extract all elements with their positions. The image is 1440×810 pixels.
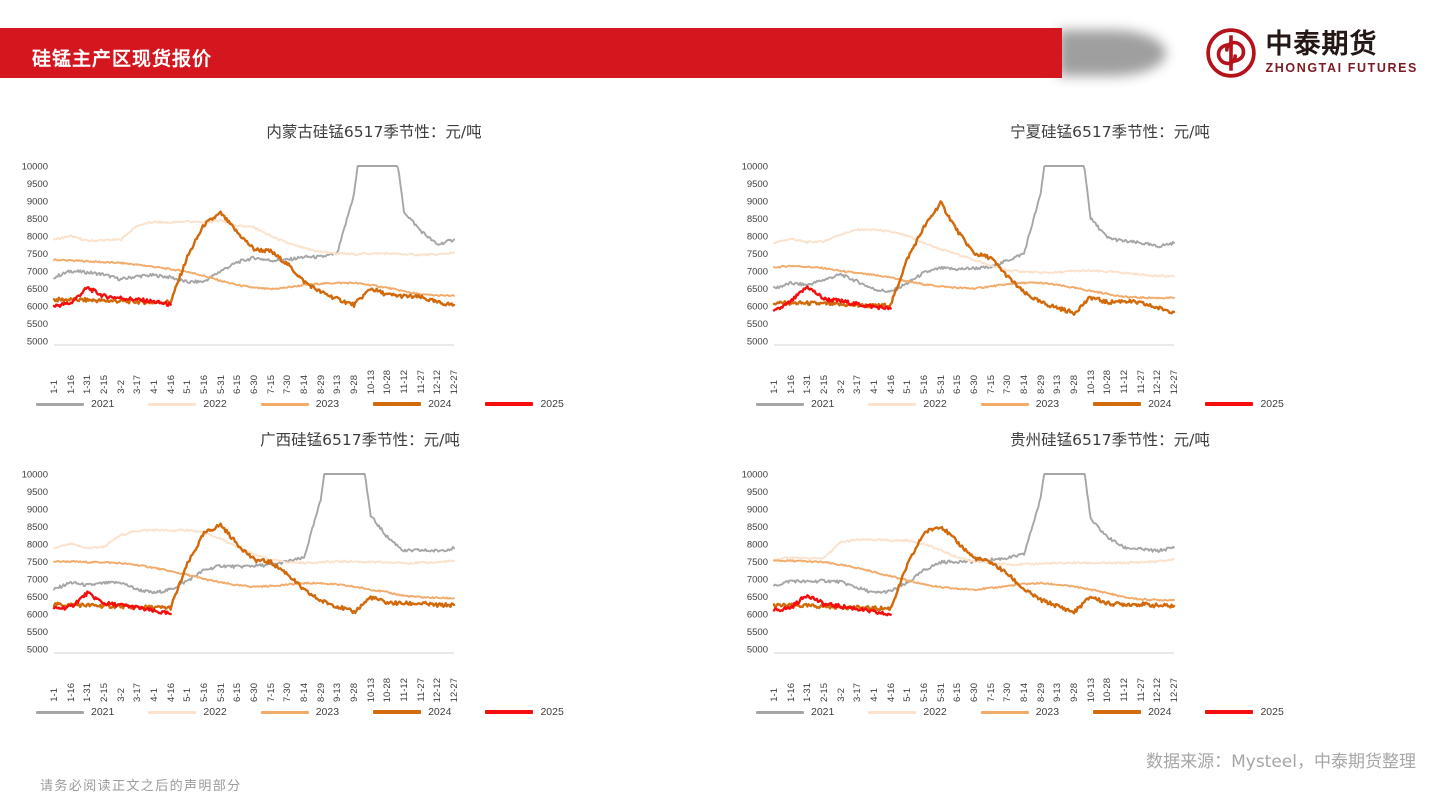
legend-swatch-icon xyxy=(1205,710,1253,714)
y-axis-tick-label: 7000 xyxy=(747,575,768,586)
legend-label: 2023 xyxy=(1036,706,1059,718)
chart-title: 广西硅锰6517季节性：元/吨 xyxy=(0,428,720,450)
legend-label: 2024 xyxy=(1148,398,1171,410)
x-axis-tick-label: 7-30 xyxy=(1002,683,1013,702)
y-axis-tick-label: 8500 xyxy=(747,214,768,225)
x-axis-tick-label: 1-16 xyxy=(66,683,77,702)
x-axis-tick-label: 1-31 xyxy=(82,375,93,394)
x-axis-tick-label: 4-16 xyxy=(166,683,177,702)
series-line-2025 xyxy=(774,287,891,311)
chart-legend: 20212022202320242025 xyxy=(756,398,1284,410)
y-axis-tick-label: 9000 xyxy=(747,197,768,208)
chart-guizhou: 贵州硅锰6517季节性：元/吨1000095009000850080007500… xyxy=(720,420,1440,728)
plot-area: 1000095009000850080007500700065006000550… xyxy=(720,158,1440,358)
x-axis-tick-label: 2-15 xyxy=(819,375,830,394)
x-axis-tick-label: 10-28 xyxy=(1102,370,1113,394)
chart-guangxi: 广西硅锰6517季节性：元/吨1000095009000850080007500… xyxy=(0,420,720,728)
legend-item-2023[interactable]: 2023 xyxy=(261,706,373,718)
x-axis-tick-label: 5-31 xyxy=(936,683,947,702)
footer-data-source: 数据来源：Mysteel，中泰期货整理 xyxy=(1146,747,1416,772)
x-axis-tick-label: 7-15 xyxy=(266,375,277,394)
legend-item-2022[interactable]: 2022 xyxy=(868,706,980,718)
series-line-2025 xyxy=(774,595,891,615)
legend-label: 2022 xyxy=(203,706,226,718)
legend-label: 2025 xyxy=(540,706,563,718)
x-axis-tick-label: 12-27 xyxy=(449,370,460,394)
legend-item-2022[interactable]: 2022 xyxy=(868,398,980,410)
x-axis-tick-label: 1-1 xyxy=(49,380,60,394)
y-axis-tick-label: 10000 xyxy=(742,162,768,173)
legend-swatch-icon xyxy=(148,403,196,406)
x-axis-tick-label: 5-16 xyxy=(919,375,930,394)
x-axis-tick-label: 9-13 xyxy=(332,375,343,394)
x-axis-tick-label: 11-27 xyxy=(1136,678,1147,702)
x-axis-tick-label: 7-15 xyxy=(266,683,277,702)
legend-swatch-icon xyxy=(868,711,916,714)
y-axis-tick-label: 8000 xyxy=(27,232,48,243)
y-axis-tick-label: 6500 xyxy=(27,284,48,295)
x-axis-tick-label: 9-28 xyxy=(1069,683,1080,702)
y-axis-tick-label: 9000 xyxy=(27,197,48,208)
legend-label: 2021 xyxy=(811,398,834,410)
y-axis-tick-label: 5000 xyxy=(27,337,48,348)
y-axis-tick-label: 5500 xyxy=(27,319,48,330)
x-axis-tick-label: 4-16 xyxy=(886,683,897,702)
x-axis-tick-label: 9-13 xyxy=(1052,375,1063,394)
zhongtai-logo-icon xyxy=(1205,27,1257,79)
y-axis-tick-label: 6000 xyxy=(747,302,768,313)
y-axis-tick-label: 6500 xyxy=(747,592,768,603)
legend-item-2023[interactable]: 2023 xyxy=(981,398,1093,410)
chart-legend: 20212022202320242025 xyxy=(756,706,1284,718)
y-axis-tick-label: 8000 xyxy=(747,232,768,243)
y-axis-tick-label: 9000 xyxy=(747,505,768,516)
x-axis-labels: 1-11-161-312-153-23-174-14-165-15-165-31… xyxy=(54,642,454,702)
series-line-2021 xyxy=(54,474,454,593)
legend-label: 2025 xyxy=(1260,706,1283,718)
x-axis-tick-label: 10-13 xyxy=(1086,370,1097,394)
x-axis-tick-label: 12-27 xyxy=(449,678,460,702)
legend-swatch-icon xyxy=(36,711,84,714)
series-line-2024 xyxy=(54,524,454,613)
y-axis-tick-label: 7500 xyxy=(747,557,768,568)
chart-grid: 内蒙古硅锰6517季节性：元/吨100009500900085008000750… xyxy=(0,112,1440,742)
x-axis-tick-label: 10-28 xyxy=(382,370,393,394)
legend-item-2025[interactable]: 2025 xyxy=(1205,398,1283,410)
x-axis-tick-label: 3-2 xyxy=(836,688,847,702)
y-axis-tick-label: 5500 xyxy=(747,319,768,330)
x-axis-tick-label: 10-13 xyxy=(366,678,377,702)
chart-legend: 20212022202320242025 xyxy=(36,706,564,718)
x-axis-tick-label: 8-14 xyxy=(1019,375,1030,394)
x-axis-tick-label: 1-1 xyxy=(769,688,780,702)
x-axis-tick-label: 5-31 xyxy=(216,683,227,702)
legend-swatch-icon xyxy=(981,711,1029,714)
x-axis-tick-label: 11-12 xyxy=(1119,370,1130,394)
x-axis-tick-label: 4-16 xyxy=(166,375,177,394)
x-axis-tick-label: 3-2 xyxy=(116,380,127,394)
legend-item-2025[interactable]: 2025 xyxy=(485,398,563,410)
x-axis-tick-label: 12-27 xyxy=(1169,370,1180,394)
legend-label: 2021 xyxy=(91,706,114,718)
page-title: 硅锰主产区现货报价 xyxy=(32,44,212,71)
legend-label: 2024 xyxy=(428,398,451,410)
x-axis-tick-label: 12-12 xyxy=(1152,678,1163,702)
x-axis-tick-label: 7-30 xyxy=(282,375,293,394)
plot-area: 1000095009000850080007500700065006000550… xyxy=(0,158,720,358)
x-axis-tick-label: 7-15 xyxy=(986,683,997,702)
legend-swatch-icon xyxy=(36,403,84,406)
x-axis-tick-label: 5-16 xyxy=(199,375,210,394)
x-axis-tick-label: 10-28 xyxy=(1102,678,1113,702)
x-axis-tick-label: 5-16 xyxy=(199,683,210,702)
legend-item-2021[interactable]: 2021 xyxy=(36,706,148,718)
chart-ningxia: 宁夏硅锰6517季节性：元/吨1000095009000850080007500… xyxy=(720,112,1440,420)
x-axis-tick-label: 8-29 xyxy=(316,375,327,394)
legend-swatch-icon xyxy=(1205,402,1253,406)
x-axis-tick-label: 1-16 xyxy=(66,375,77,394)
x-axis-tick-label: 1-31 xyxy=(82,683,93,702)
y-axis-tick-label: 10000 xyxy=(742,470,768,481)
y-axis-tick-label: 5500 xyxy=(747,627,768,638)
y-axis-tick-label: 9000 xyxy=(27,505,48,516)
y-axis-tick-label: 8500 xyxy=(27,214,48,225)
legend-item-2021[interactable]: 2021 xyxy=(36,398,148,410)
x-axis-tick-label: 3-17 xyxy=(852,375,863,394)
legend-swatch-icon xyxy=(756,403,804,406)
x-axis-tick-label: 6-15 xyxy=(232,375,243,394)
x-axis-tick-label: 6-30 xyxy=(969,683,980,702)
x-axis-tick-label: 9-13 xyxy=(332,683,343,702)
legend-label: 2024 xyxy=(428,706,451,718)
y-axis-tick-label: 6000 xyxy=(747,610,768,621)
legend-item-2022[interactable]: 2022 xyxy=(148,398,260,410)
legend-label: 2022 xyxy=(923,706,946,718)
legend-label: 2023 xyxy=(316,398,339,410)
x-axis-tick-label: 9-28 xyxy=(349,375,360,394)
x-axis-tick-label: 3-2 xyxy=(836,380,847,394)
x-axis-tick-label: 5-1 xyxy=(902,688,913,702)
legend-swatch-icon xyxy=(485,402,533,406)
legend-label: 2022 xyxy=(203,398,226,410)
series-line-2022 xyxy=(774,539,1174,565)
x-axis-tick-label: 10-28 xyxy=(382,678,393,702)
x-axis-tick-label: 3-2 xyxy=(116,688,127,702)
y-axis-tick-label: 7500 xyxy=(27,557,48,568)
y-axis-tick-label: 7500 xyxy=(27,249,48,260)
y-axis-tick-label: 7500 xyxy=(747,249,768,260)
legend-item-2021[interactable]: 2021 xyxy=(756,398,868,410)
x-axis-labels: 1-11-161-312-153-23-174-14-165-15-165-31… xyxy=(774,334,1174,394)
legend-item-2021[interactable]: 2021 xyxy=(756,706,868,718)
x-axis-tick-label: 11-27 xyxy=(1136,370,1147,394)
x-axis-tick-label: 12-12 xyxy=(1152,370,1163,394)
legend-swatch-icon xyxy=(868,403,916,406)
legend-label: 2021 xyxy=(91,398,114,410)
legend-item-2023[interactable]: 2023 xyxy=(261,398,373,410)
legend-swatch-icon xyxy=(756,711,804,714)
x-axis-tick-label: 2-15 xyxy=(99,375,110,394)
x-axis-tick-label: 1-16 xyxy=(786,375,797,394)
y-axis-tick-label: 6500 xyxy=(27,592,48,603)
legend-swatch-icon xyxy=(1093,710,1141,714)
x-axis-tick-label: 2-15 xyxy=(819,683,830,702)
x-axis-tick-label: 9-28 xyxy=(349,683,360,702)
x-axis-tick-label: 6-15 xyxy=(952,683,963,702)
chart-title: 贵州硅锰6517季节性：元/吨 xyxy=(720,428,1440,450)
x-axis-tick-label: 8-14 xyxy=(299,375,310,394)
x-axis-tick-label: 10-13 xyxy=(1086,678,1097,702)
x-axis-tick-label: 2-15 xyxy=(99,683,110,702)
y-axis-tick-label: 10000 xyxy=(22,470,48,481)
x-axis-labels: 1-11-161-312-153-23-174-14-165-15-165-31… xyxy=(54,334,454,394)
x-axis-tick-label: 12-12 xyxy=(432,678,443,702)
y-axis-tick-label: 10000 xyxy=(22,162,48,173)
plot-area: 1000095009000850080007500700065006000550… xyxy=(0,466,720,666)
legend-item-2025[interactable]: 2025 xyxy=(1205,706,1283,718)
x-axis-tick-label: 7-30 xyxy=(282,683,293,702)
y-axis-tick-label: 7000 xyxy=(27,575,48,586)
legend-label: 2022 xyxy=(923,398,946,410)
logo-chinese-name: 中泰期货 xyxy=(1266,31,1418,58)
legend-swatch-icon xyxy=(981,403,1029,406)
x-axis-tick-label: 8-29 xyxy=(1036,375,1047,394)
x-axis-tick-label: 1-16 xyxy=(786,683,797,702)
legend-swatch-icon xyxy=(261,403,309,406)
x-axis-tick-label: 6-30 xyxy=(249,375,260,394)
legend-label: 2021 xyxy=(811,706,834,718)
y-axis-tick-label: 8500 xyxy=(747,522,768,533)
y-axis-tick-label: 8000 xyxy=(27,540,48,551)
x-axis-tick-label: 4-16 xyxy=(886,375,897,394)
y-axis-tick-label: 5000 xyxy=(747,645,768,656)
x-axis-tick-label: 5-1 xyxy=(902,380,913,394)
x-axis-tick-label: 12-27 xyxy=(1169,678,1180,702)
x-axis-tick-label: 9-28 xyxy=(1069,375,1080,394)
y-axis-tick-label: 5000 xyxy=(747,337,768,348)
x-axis-tick-label: 1-31 xyxy=(802,683,813,702)
y-axis-tick-label: 9500 xyxy=(747,487,768,498)
x-axis-tick-label: 6-30 xyxy=(249,683,260,702)
x-axis-tick-label: 11-12 xyxy=(1119,678,1130,702)
legend-item-2024[interactable]: 2024 xyxy=(373,706,485,718)
legend-item-2024[interactable]: 2024 xyxy=(1093,706,1205,718)
x-axis-tick-label: 5-16 xyxy=(919,683,930,702)
footer-disclaimer: 请务必阅读正文之后的声明部分 xyxy=(40,775,242,794)
y-axis-tick-label: 6500 xyxy=(747,284,768,295)
y-axis-tick-label: 6000 xyxy=(27,302,48,313)
legend-item-2023[interactable]: 2023 xyxy=(981,706,1093,718)
x-axis-tick-label: 8-14 xyxy=(1019,683,1030,702)
chart-inner-mongolia: 内蒙古硅锰6517季节性：元/吨100009500900085008000750… xyxy=(0,112,720,420)
y-axis-tick-label: 9500 xyxy=(747,179,768,190)
x-axis-tick-label: 1-31 xyxy=(802,375,813,394)
y-axis-tick-label: 9500 xyxy=(27,487,48,498)
logo-english-name: ZHONGTAI FUTURES xyxy=(1266,62,1418,75)
legend-label: 2025 xyxy=(1260,398,1283,410)
series-line-2021 xyxy=(774,166,1174,292)
legend-label: 2023 xyxy=(316,706,339,718)
y-axis-tick-label: 7000 xyxy=(747,267,768,278)
legend-swatch-icon xyxy=(373,402,421,406)
series-line-2021 xyxy=(774,474,1174,593)
legend-swatch-icon xyxy=(261,711,309,714)
x-axis-tick-label: 8-29 xyxy=(316,683,327,702)
chart-title: 宁夏硅锰6517季节性：元/吨 xyxy=(720,120,1440,142)
x-axis-tick-label: 3-17 xyxy=(132,375,143,394)
x-axis-tick-label: 11-27 xyxy=(416,370,427,394)
x-axis-tick-label: 1-1 xyxy=(49,688,60,702)
x-axis-tick-label: 6-15 xyxy=(232,683,243,702)
chart-legend: 20212022202320242025 xyxy=(36,398,564,410)
x-axis-tick-label: 8-14 xyxy=(299,683,310,702)
legend-label: 2023 xyxy=(1036,398,1059,410)
legend-item-2025[interactable]: 2025 xyxy=(485,706,563,718)
y-axis-tick-label: 8000 xyxy=(747,540,768,551)
x-axis-tick-label: 8-29 xyxy=(1036,683,1047,702)
x-axis-tick-label: 4-1 xyxy=(149,380,160,394)
brand-logo: 中泰期货 ZHONGTAI FUTURES xyxy=(1205,27,1418,79)
legend-swatch-icon xyxy=(373,710,421,714)
legend-swatch-icon xyxy=(1093,402,1141,406)
x-axis-tick-label: 11-12 xyxy=(399,370,410,394)
x-axis-tick-label: 5-1 xyxy=(182,688,193,702)
header-smear-decoration xyxy=(1058,30,1166,76)
legend-item-2022[interactable]: 2022 xyxy=(148,706,260,718)
legend-item-2024[interactable]: 2024 xyxy=(373,398,485,410)
legend-swatch-icon xyxy=(485,710,533,714)
series-line-2021 xyxy=(54,166,454,283)
x-axis-tick-label: 4-1 xyxy=(869,688,880,702)
y-axis-tick-label: 6000 xyxy=(27,610,48,621)
x-axis-tick-label: 7-30 xyxy=(1002,375,1013,394)
x-axis-tick-label: 5-31 xyxy=(936,375,947,394)
x-axis-tick-label: 12-12 xyxy=(432,370,443,394)
x-axis-tick-label: 11-27 xyxy=(416,678,427,702)
y-axis-tick-label: 8500 xyxy=(27,522,48,533)
x-axis-tick-label: 11-12 xyxy=(399,678,410,702)
chart-title: 内蒙古硅锰6517季节性：元/吨 xyxy=(0,120,734,142)
x-axis-tick-label: 6-30 xyxy=(969,375,980,394)
x-axis-tick-label: 5-1 xyxy=(182,380,193,394)
x-axis-tick-label: 4-1 xyxy=(869,380,880,394)
x-axis-tick-label: 9-13 xyxy=(1052,683,1063,702)
plot-area: 1000095009000850080007500700065006000550… xyxy=(720,466,1440,666)
x-axis-tick-label: 5-31 xyxy=(216,375,227,394)
legend-swatch-icon xyxy=(148,711,196,714)
x-axis-tick-label: 6-15 xyxy=(952,375,963,394)
x-axis-labels: 1-11-161-312-153-23-174-14-165-15-165-31… xyxy=(774,642,1174,702)
legend-label: 2024 xyxy=(1148,706,1171,718)
x-axis-tick-label: 7-15 xyxy=(986,375,997,394)
x-axis-tick-label: 1-1 xyxy=(769,380,780,394)
y-axis-tick-label: 9500 xyxy=(27,179,48,190)
x-axis-tick-label: 10-13 xyxy=(366,370,377,394)
legend-label: 2025 xyxy=(540,398,563,410)
legend-item-2024[interactable]: 2024 xyxy=(1093,398,1205,410)
y-axis-tick-label: 5500 xyxy=(27,627,48,638)
x-axis-tick-label: 3-17 xyxy=(852,683,863,702)
x-axis-tick-label: 4-1 xyxy=(149,688,160,702)
x-axis-tick-label: 3-17 xyxy=(132,683,143,702)
y-axis-tick-label: 7000 xyxy=(27,267,48,278)
y-axis-tick-label: 5000 xyxy=(27,645,48,656)
